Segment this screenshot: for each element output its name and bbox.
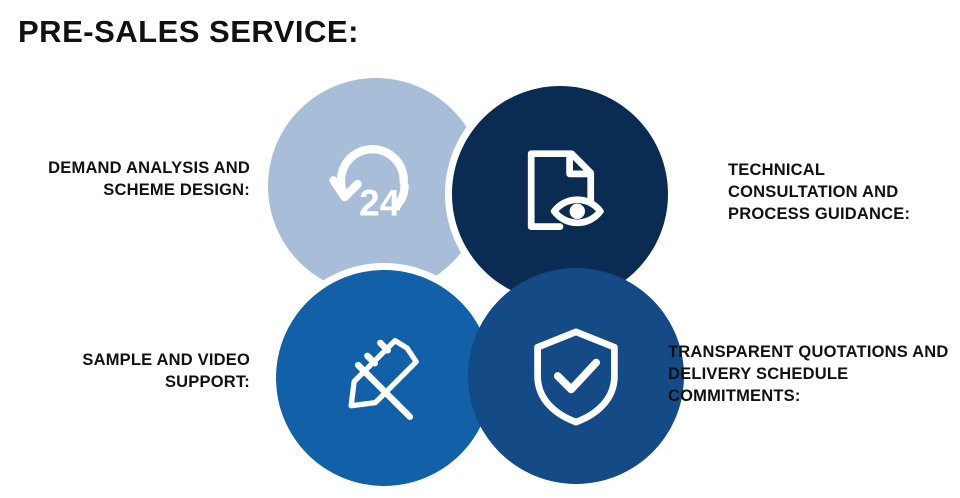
circle-sample-and-video[interactable] (276, 270, 492, 486)
label-technical-consultation: TECHNICAL CONSULTATION AND PROCESS GUIDA… (728, 160, 954, 225)
shield-check-icon (528, 328, 624, 424)
circle-cluster: 24 (268, 78, 692, 486)
circle-transparent-quotations[interactable] (468, 268, 684, 484)
infographic-canvas: PRE-SALES SERVICE: 24 (0, 0, 960, 498)
pen-ruler-icon (336, 330, 432, 426)
clock-arrow-24-icon: 24 (328, 138, 424, 234)
label-transparent-quotations: TRANSPARENT QUOTATIONS AND DELIVERY SCHE… (668, 342, 960, 407)
document-eye-icon (512, 146, 608, 242)
clock-icon-24-text: 24 (359, 183, 401, 224)
label-sample-and-video: SAMPLE AND VIDEO SUPPORT: (10, 350, 250, 394)
label-demand-analysis: DEMAND ANALYSIS AND SCHEME DESIGN: (10, 158, 250, 202)
page-title: PRE-SALES SERVICE: (18, 14, 359, 50)
